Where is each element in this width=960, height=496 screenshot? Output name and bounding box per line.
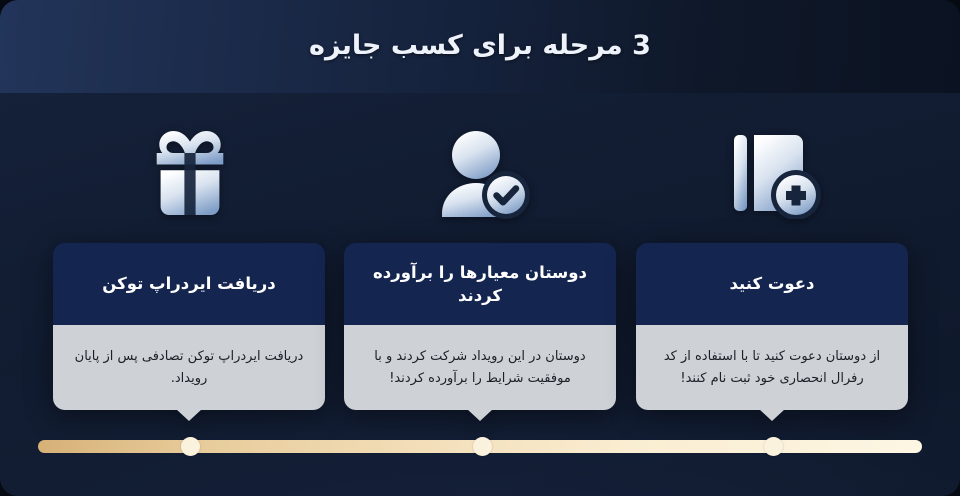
step-card-3-pointer [759, 409, 785, 421]
step-card-1-header: دریافت ایردراپ توکن [53, 243, 325, 325]
user-check-icon [434, 127, 530, 219]
page-title: 3 مرحله برای کسب جایزه [0, 26, 960, 66]
panel-header: 3 مرحله برای کسب جایزه [0, 0, 960, 93]
step-icon-slot-3 [673, 118, 873, 228]
step-card-2-title: دوستان معیارها را برآورده کردند [360, 261, 600, 308]
contact-book-add-icon [725, 127, 821, 219]
step-card-3-body: از دوستان دعوت کنید تا با استفاده از کد … [636, 325, 908, 410]
step-icons-row [0, 118, 960, 238]
step-card-1-body: دریافت ایردراپ توکن تصادفی پس از پایان ر… [53, 325, 325, 410]
step-card-2-body: دوستان در این رویداد شرکت کردند و با موف… [344, 325, 616, 410]
step-card-3-title: دعوت کنید [730, 272, 815, 295]
step-card-1-title: دریافت ایردراپ توکن [102, 272, 275, 295]
step-card-3[interactable]: دعوت کنید از دوستان دعوت کنید تا با استف… [636, 243, 908, 410]
step-card-2-description: دوستان در این رویداد شرکت کردند و با موف… [362, 346, 598, 388]
reward-steps-panel: 3 مرحله برای کسب جایزه [0, 0, 960, 496]
step-icon-slot-1 [90, 118, 290, 228]
progress-marker-3[interactable] [764, 437, 783, 456]
step-card-1-description: دریافت ایردراپ توکن تصادفی پس از پایان ر… [71, 346, 307, 388]
gift-box-icon [142, 127, 238, 219]
step-card-3-header: دعوت کنید [636, 243, 908, 325]
progress-marker-2[interactable] [473, 437, 492, 456]
step-card-1-pointer [176, 409, 202, 421]
progress-marker-1[interactable] [181, 437, 200, 456]
step-card-3-description: از دوستان دعوت کنید تا با استفاده از کد … [654, 346, 890, 388]
step-card-2-pointer [467, 409, 493, 421]
step-card-1[interactable]: دریافت ایردراپ توکن دریافت ایردراپ توکن … [53, 243, 325, 410]
step-card-2-header: دوستان معیارها را برآورده کردند [344, 243, 616, 325]
progress-timeline [38, 437, 922, 455]
step-icon-slot-2 [382, 118, 582, 228]
step-card-2[interactable]: دوستان معیارها را برآورده کردند دوستان د… [344, 243, 616, 410]
